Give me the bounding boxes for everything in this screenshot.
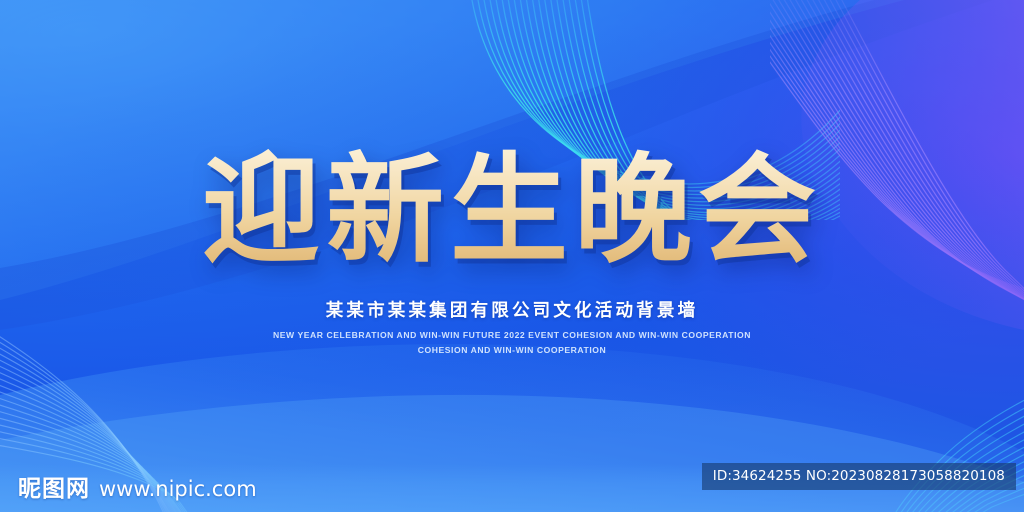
id-badge: ID:34624255 NO:20230828173058820108 — [702, 463, 1016, 490]
subtitle-english-line1: NEW YEAR CELEBRATION AND WIN-WIN FUTURE … — [0, 330, 1024, 340]
poster-canvas: 迎新生晚会 某某市某某集团有限公司文化活动背景墙 NEW YEAR CELEBR… — [0, 0, 1024, 512]
page-title: 迎新生晚会 — [0, 148, 1024, 274]
watermark: 昵图网 www.nipic.com — [18, 469, 257, 503]
subtitle-chinese: 某某市某某集团有限公司文化活动背景墙 — [0, 297, 1024, 322]
subtitle-english-line2: COHESION AND WIN-WIN COOPERATION — [0, 345, 1024, 355]
watermark-logo: 昵图网 — [18, 469, 90, 503]
watermark-url: www.nipic.com — [99, 477, 257, 501]
